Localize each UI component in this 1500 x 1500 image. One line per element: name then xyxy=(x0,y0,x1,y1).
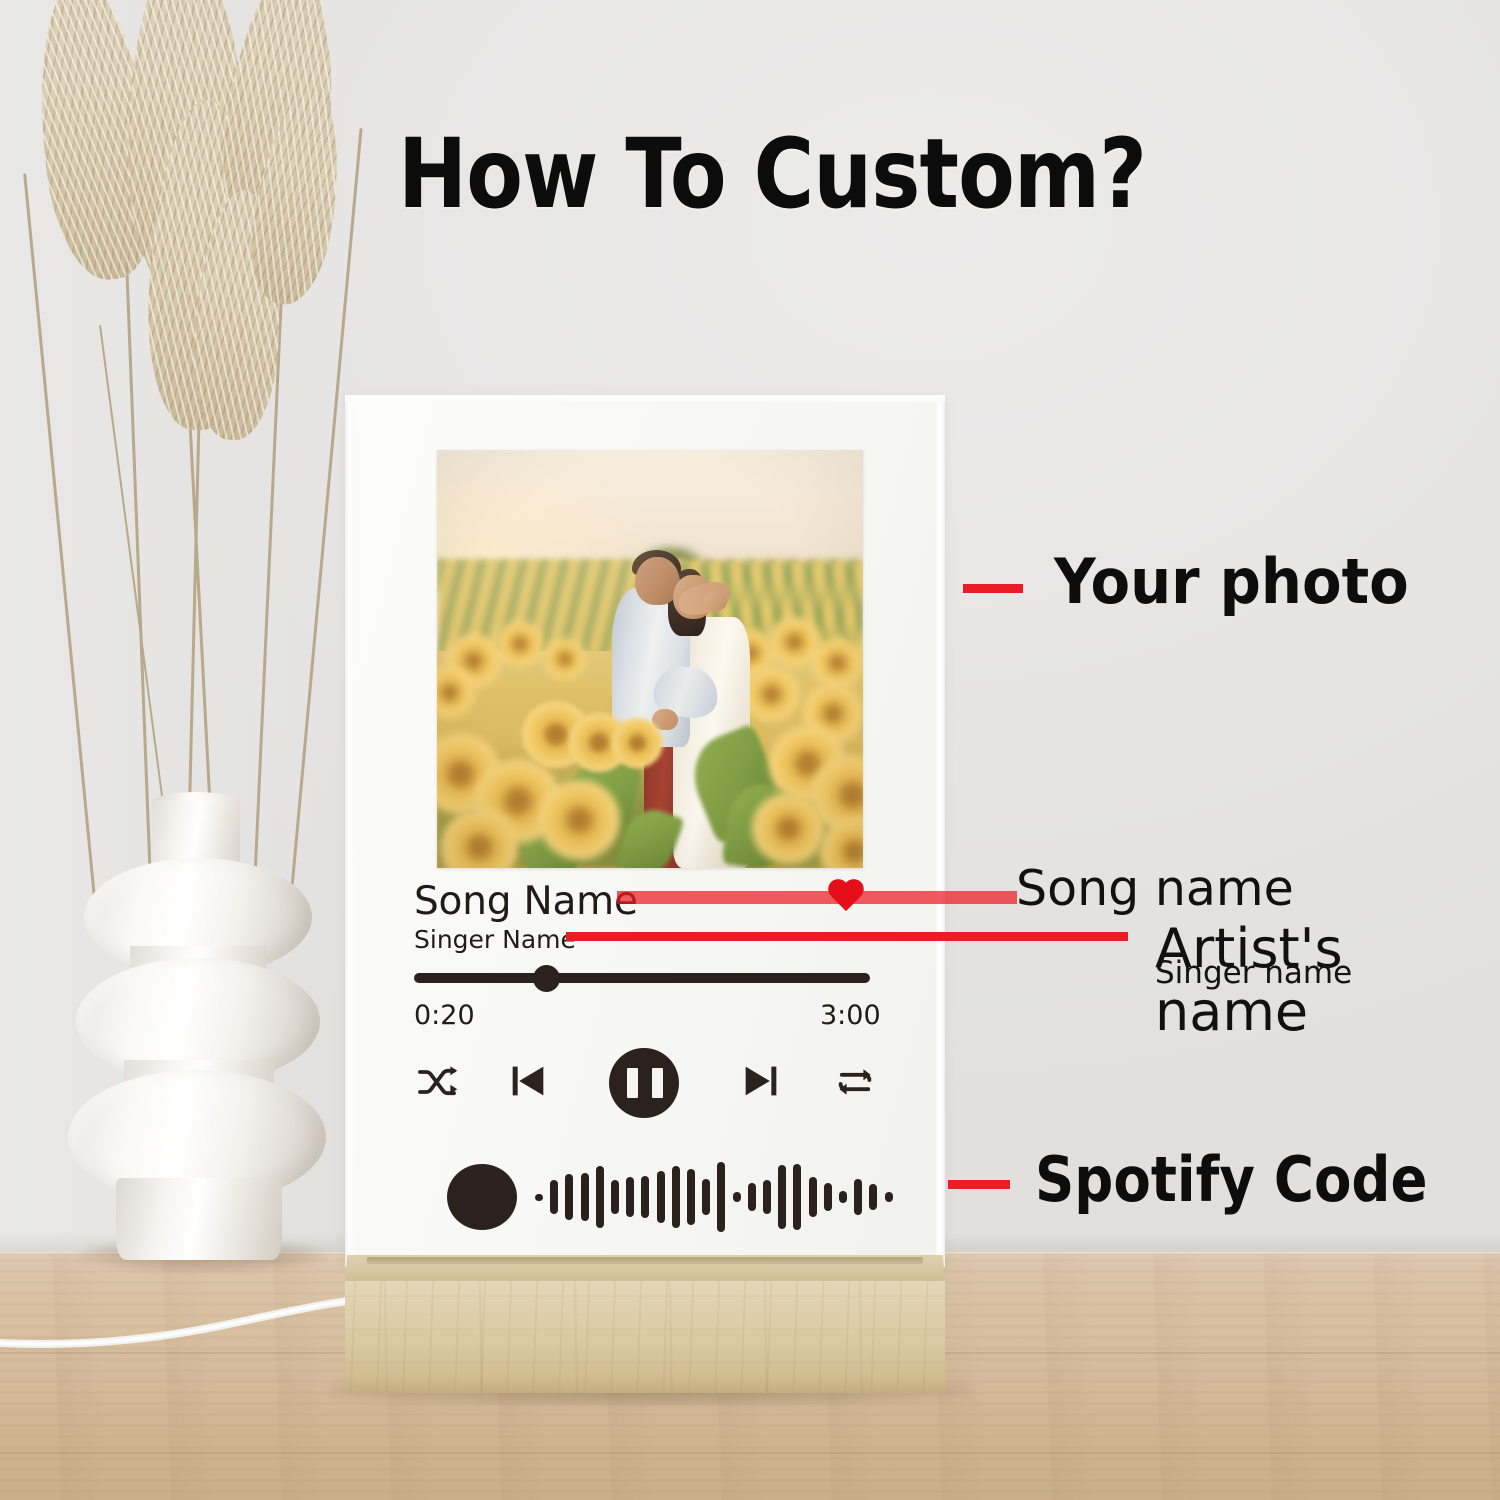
plaque-right-edge xyxy=(936,395,945,1267)
pause-icon-bar xyxy=(627,1068,638,1098)
shuffle-icon[interactable] xyxy=(414,1058,462,1106)
wooden-stand xyxy=(345,1255,945,1395)
progress-bar[interactable] xyxy=(414,973,870,983)
product-infographic: Song Name Singer Name 0:20 3:00 xyxy=(0,0,1500,1500)
spotify-code-bar xyxy=(687,1169,695,1225)
plaque-left-edge xyxy=(345,395,354,1267)
spotify-code-bar xyxy=(854,1179,862,1215)
spotify-code-bar xyxy=(717,1162,725,1232)
plaque-top-edge xyxy=(345,395,945,402)
spotify-code-bar xyxy=(581,1173,589,1221)
pause-icon-bar xyxy=(652,1068,663,1098)
spotify-code-bar xyxy=(809,1177,817,1217)
spotify-code-bar xyxy=(869,1184,877,1210)
ceramic-vase xyxy=(60,770,340,1270)
leader-line-spotify xyxy=(948,1180,1010,1189)
leader-line-song xyxy=(617,891,1017,904)
spotify-code-bar xyxy=(641,1176,649,1218)
song-name-text: Song Name xyxy=(414,879,638,924)
next-icon[interactable] xyxy=(738,1058,784,1104)
page-title: How To Custom? xyxy=(398,118,1172,230)
spotify-code-dot xyxy=(447,1164,517,1230)
spotify-code-bar xyxy=(839,1191,847,1203)
spotify-code-bar xyxy=(763,1180,771,1214)
leader-line-artist xyxy=(566,932,1128,941)
repeat-icon[interactable] xyxy=(831,1058,879,1106)
spotify-code-bar xyxy=(657,1171,665,1223)
callout-label-photo: Your photo xyxy=(1054,545,1409,618)
spotify-code-bar xyxy=(702,1179,710,1215)
spotify-code-bar xyxy=(626,1177,634,1217)
singer-name-text: Singer Name xyxy=(414,925,576,954)
callout-label-spotify: Spotify Code xyxy=(1035,1143,1428,1216)
time-current: 0:20 xyxy=(414,1000,475,1031)
spotify-code-bar xyxy=(733,1192,741,1202)
stand-slot xyxy=(367,1257,923,1264)
spotify-code-bar xyxy=(824,1183,832,1211)
spotify-code-bar xyxy=(596,1166,604,1228)
stand-grain xyxy=(345,1281,945,1393)
spotify-code-bar xyxy=(778,1165,786,1229)
stand-front-face xyxy=(345,1281,945,1393)
time-total: 3:00 xyxy=(820,1000,881,1031)
spotify-code-bar xyxy=(565,1174,573,1220)
spotify-code-bar xyxy=(748,1183,756,1211)
spotify-scan-code[interactable] xyxy=(447,1150,847,1245)
stand-top-face xyxy=(345,1255,945,1283)
spotify-code-bar xyxy=(611,1180,619,1214)
spotify-code-bar xyxy=(885,1192,893,1202)
spotify-code-bar xyxy=(793,1164,801,1230)
pause-button[interactable] xyxy=(609,1048,679,1118)
callout-label-singer: Singer name xyxy=(1155,955,1352,991)
table-plank-seam xyxy=(0,1452,1500,1454)
custom-photo xyxy=(437,450,863,868)
heart-icon xyxy=(826,880,866,916)
leader-line-photo xyxy=(963,584,1023,593)
previous-icon[interactable] xyxy=(505,1058,551,1104)
photo-vignette xyxy=(437,450,863,868)
spotify-code-bar xyxy=(550,1180,558,1214)
spotify-code-bar xyxy=(535,1194,543,1201)
callout-label-song: Song name xyxy=(1016,860,1294,917)
spotify-code-bar xyxy=(672,1166,680,1228)
